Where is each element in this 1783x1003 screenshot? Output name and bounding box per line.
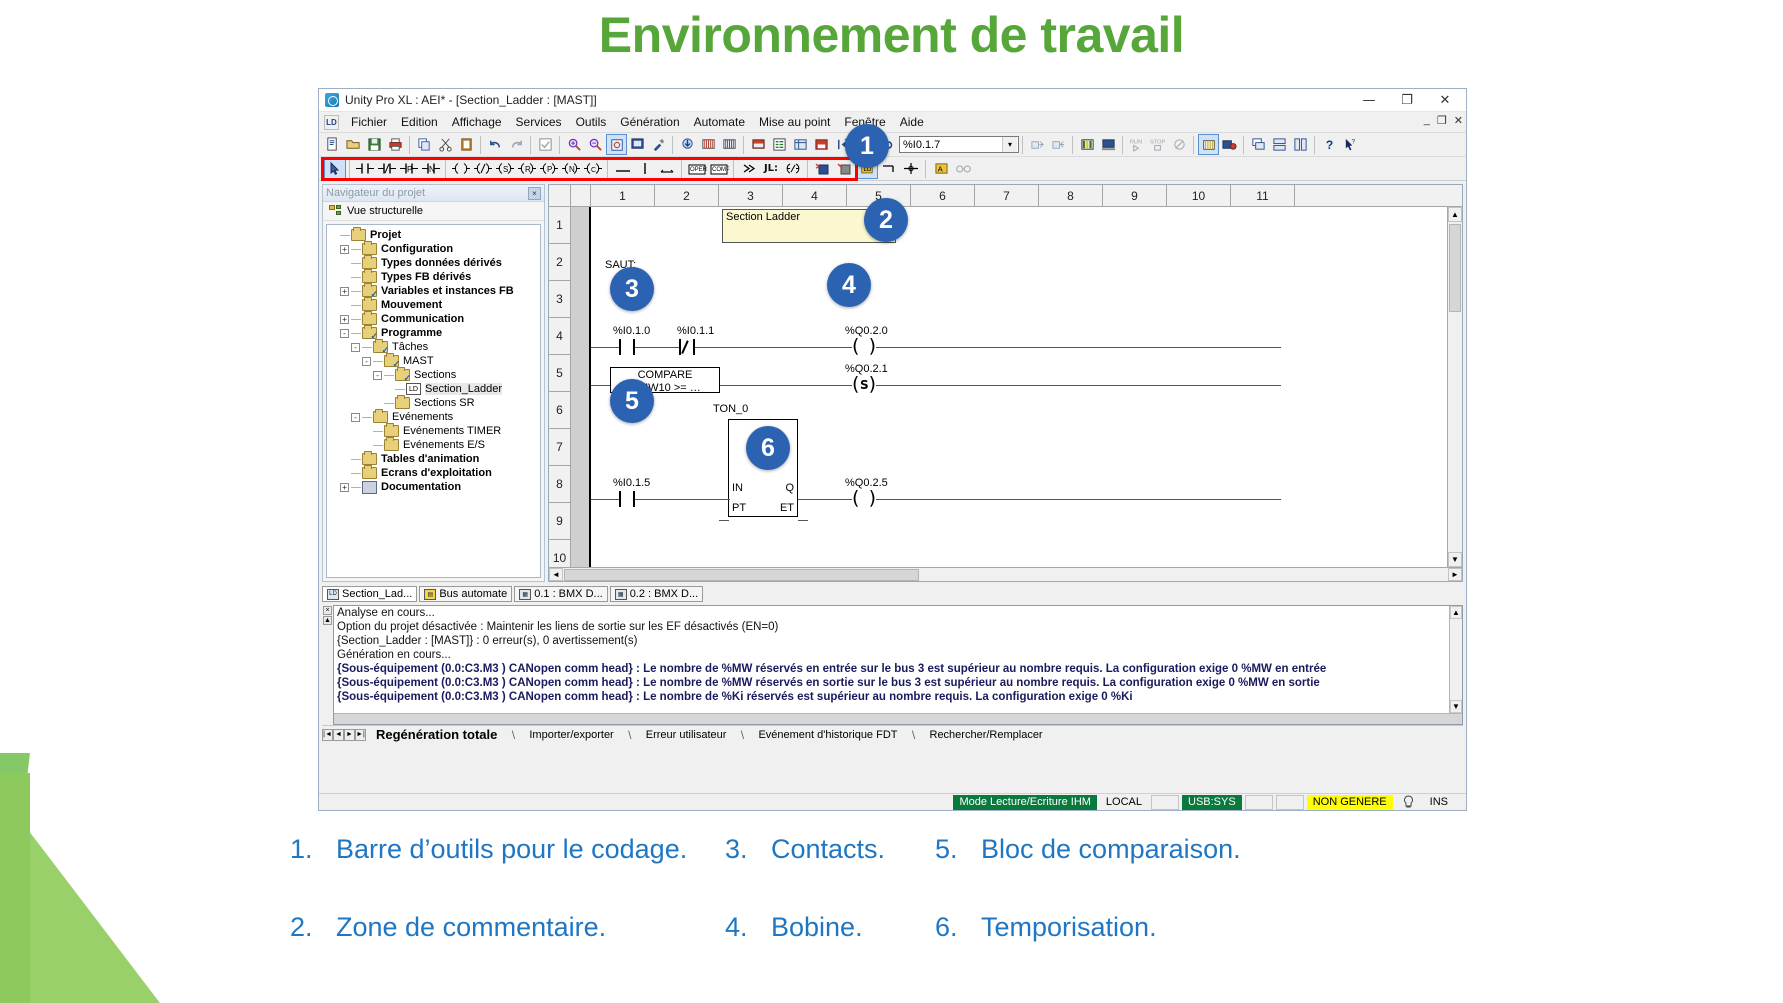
output-tab-3[interactable]: Evénement d'historique FDT [748,729,907,741]
init-icon[interactable] [1169,134,1190,155]
build-icon[interactable] [677,134,698,155]
toolbar-separator [349,160,351,178]
cascade-icon[interactable] [1248,134,1269,155]
coil-halt-icon[interactable]: N [560,159,582,179]
tree-node[interactable]: Evénements E/S [329,438,538,452]
caption-item-3: 3. Contacts. [725,832,935,866]
navigator-title-bar: Navigateur du projet × [323,185,544,202]
folder-icon [384,425,399,437]
contact-no-2[interactable] [619,491,635,507]
context-help-icon[interactable]: ? [1340,134,1361,155]
v-link-icon[interactable] [634,159,656,179]
tree-connector [384,403,394,404]
wire-segment [591,385,610,386]
mdi-minimize-button[interactable]: _ [1424,114,1430,127]
document-tab-1[interactable]: ▤Bus automate [419,586,512,602]
tree-node[interactable]: Evénements TIMER [329,424,538,438]
tree-connector [340,235,350,236]
caption-text-5: Bloc de comparaison. [981,832,1241,866]
column-header-2[interactable]: 2 [655,185,719,206]
operator-icon[interactable] [1219,134,1240,155]
wire-segment [720,385,852,386]
help-icon[interactable]: ? [1319,134,1340,155]
tree-node-label: Evénements TIMER [403,425,501,437]
structural-view-tab[interactable]: Vue structurelle [323,202,544,221]
tree-node[interactable]: +Documentation [329,480,538,494]
coil-output-1[interactable]: () [852,338,876,356]
contact-no-icon[interactable] [354,159,376,179]
wire-segment [876,385,1281,386]
row-header-10[interactable]: 10 [549,540,570,567]
ton-pin-pt: PT [732,502,746,514]
cross-icon[interactable] [900,159,922,179]
folder-icon [362,467,377,479]
coil-pulse-icon[interactable]: P [538,159,560,179]
tile-horizontal-icon[interactable] [1269,134,1290,155]
tree-node[interactable]: +Communication [329,312,538,326]
column-header-7[interactable]: 7 [975,185,1039,206]
output-line-0[interactable]: Analyse en cours... [334,606,1462,620]
tree-expander-icon[interactable]: - [351,343,360,352]
toolbar-separator [1072,136,1074,154]
column-header-1[interactable]: 1 [591,185,655,206]
output-line-5[interactable]: {Sous-équipement (0.0:C3.M3 ) CANopen co… [334,676,1462,690]
print-icon[interactable] [385,134,406,155]
copy-icon[interactable] [414,134,435,155]
ld-icon: LD [327,589,339,600]
validate-icon[interactable] [535,134,556,155]
tree-expander-icon[interactable]: + [340,287,349,296]
mdi-close-button[interactable]: ✕ [1454,114,1463,127]
data-editor-icon[interactable] [748,134,769,155]
menu-item-outils[interactable]: Outils [569,113,614,131]
tree-connector [351,277,361,278]
folder-icon [362,271,377,283]
animation-icon[interactable] [1198,134,1219,155]
row-header-1[interactable]: 1 [549,207,570,244]
tree-connector [351,249,361,250]
tree-connector [351,487,361,488]
menu-item-automate[interactable]: Automate [687,113,752,131]
scroll-up-icon[interactable]: ▲ [1450,606,1462,619]
wire-segment [719,520,729,521]
tree-spacer [362,441,371,450]
scroll-left-icon[interactable]: ◄ [549,568,563,581]
document-tab-2[interactable]: ▦0.1 : BMX D... [514,586,607,602]
link-drag-icon[interactable] [656,159,678,179]
app-body: Navigateur du projet × Vue structurelle … [319,181,1466,585]
coil-icon[interactable] [450,159,472,179]
contact-no[interactable] [619,339,635,355]
ton-pin-et: ET [780,502,794,514]
tree-node-label: Programme [381,327,442,339]
tree-node[interactable]: +Configuration [329,242,538,256]
fb-insert-icon[interactable] [812,159,834,179]
ladder-editor: 1 2 3 4 5 6 7 8 9 10 11 12345678910 Sect… [548,184,1463,582]
toolbar-separator [733,160,735,178]
tree-node-label: Ecrans d'exploitation [381,467,492,479]
caption-list: 1. Barre d’outils pour le codage. 3. Con… [290,832,1490,988]
operate-block-icon[interactable]: OPER [686,159,708,179]
output-tab-2[interactable]: Erreur utilisateur [636,729,737,741]
svg-text:RUN: RUN [1130,140,1142,146]
prev-tab-icon[interactable]: ◄ [333,729,344,741]
caption-text-1: Barre d’outils pour le codage. [336,832,687,866]
caption-number-6: 6. [935,910,969,944]
output-tab-1[interactable]: Importer/exporter [519,729,623,741]
callout-marker-6: 6 [746,426,790,470]
text-icon[interactable]: A [930,159,952,179]
tree-node[interactable]: Tables d'animation [329,452,538,466]
callout-marker-5: 5 [610,379,654,423]
tree-node[interactable]: -Evénements [329,410,538,424]
caption-number-5: 5. [935,832,969,866]
tree-connector [384,375,394,376]
column-header-3[interactable]: 3 [719,185,783,206]
status-location: LOCAL [1100,795,1148,810]
menu-item-mise-au-point[interactable]: Mise au point [752,113,837,131]
first-tab-icon[interactable]: |◄ [322,729,333,741]
folder-icon [384,355,399,367]
structural-view-label: Vue structurelle [347,205,423,217]
connect-icon[interactable] [1027,134,1048,155]
tree-spacer [340,273,349,282]
tree-node[interactable]: LDSection_Ladder [329,382,538,396]
scroll-right-icon[interactable]: ► [1448,568,1462,581]
coil-output-3[interactable]: () [852,490,876,508]
caption-number-1: 1. [290,832,324,866]
plc-screen-icon[interactable] [1077,134,1098,155]
disconnect-icon[interactable] [1048,134,1069,155]
svg-text:P: P [407,165,412,174]
folder-icon [373,341,388,353]
redo-icon[interactable] [506,134,527,155]
coil-not-icon[interactable] [472,159,494,179]
document-tab-label: 0.2 : BMX D... [630,588,698,600]
output-window: × ▲ Analyse en cours...Option du projet … [322,605,1463,725]
wire-segment [695,347,852,348]
menu-item-edition[interactable]: Edition [394,113,445,131]
menu-item-affichage[interactable]: Affichage [445,113,509,131]
tree-node-label: Configuration [381,243,453,255]
scroll-down-icon[interactable]: ▼ [1448,552,1462,567]
close-icon[interactable]: × [528,187,541,200]
close-icon[interactable]: × [323,606,332,615]
status-empty-1 [1151,795,1179,810]
toolbar-separator [672,136,674,154]
tree-spacer [384,385,393,394]
output-line-3[interactable]: Génération en cours... [334,648,1462,662]
svg-text:N: N [569,165,575,174]
coil-reset-icon[interactable]: R [516,159,538,179]
ladder-canvas[interactable]: Section Ladder SAUT: %I0.1.0 %I0.1.1 %Q0… [591,207,1447,567]
column-header-10[interactable]: 10 [1167,185,1231,206]
contact-a-label: %I0.1.0 [613,325,650,337]
application-window: Unity Pro XL : AEI* - [Section_Ladder : … [318,88,1467,811]
output-horizontal-scrollbar[interactable] [334,713,1462,724]
folder-icon [362,285,377,297]
tree-node[interactable]: -Tâches [329,340,538,354]
address-combo[interactable]: %I0.1.7 ▾ [899,136,1019,153]
tree-expander-icon[interactable]: + [340,483,349,492]
tree-node[interactable]: +Variables et instances FB [329,284,538,298]
tree-node-label: Communication [381,313,464,325]
menu-item-aide[interactable]: Aide [893,113,931,131]
grid-corner [549,185,571,206]
tree-node[interactable]: -Sections [329,368,538,382]
tree-node-label: Mouvement [381,299,442,311]
scroll-down-icon[interactable]: ▼ [1450,700,1462,713]
output-line-1[interactable]: Option du projet désactivée : Maintenir … [334,620,1462,634]
title-bar: Unity Pro XL : AEI* - [Section_Ladder : … [319,89,1466,112]
toolbar-separator [681,160,683,178]
wire-segment [591,347,619,348]
tab-nav-buttons: |◄ ◄ ► ►| [322,729,366,741]
tree-spacer [329,231,338,240]
toolbar-separator [1314,136,1316,154]
module-icon: ▦ [615,589,627,600]
menu-item-generation[interactable]: Génération [613,113,686,131]
chevron-down-icon[interactable]: ▾ [1002,137,1017,152]
maximize-button[interactable]: ❐ [1388,89,1426,111]
tab-separator: \ [624,728,636,742]
tree-expander-icon[interactable]: - [351,413,360,422]
undo-icon[interactable] [485,134,506,155]
svg-text:N: N [429,165,435,174]
folder-icon [351,229,366,241]
tile-vertical-icon[interactable] [1290,134,1311,155]
wire-segment [591,499,619,500]
tree-node[interactable]: Projet [329,228,538,242]
mdi-restore-button[interactable]: ❐ [1437,114,1447,127]
zoom-fit-icon[interactable] [606,134,627,155]
tree-node[interactable]: Mouvement [329,298,538,312]
minimize-button[interactable]: — [1350,89,1388,111]
structure-icon [329,205,342,217]
cut-icon[interactable] [435,134,456,155]
tree-expander-icon[interactable]: - [373,371,382,380]
svg-text:C: C [591,167,596,174]
wire-segment [720,499,730,500]
coil-output-set[interactable]: (S) [852,376,876,394]
rebuild-icon[interactable] [719,134,740,155]
project-tree[interactable]: Projet+ConfigurationTypes données dérivé… [326,224,541,578]
coil-call-icon[interactable]: C [582,159,604,179]
caption-item-4: 4. Bobine. [725,910,935,944]
output-line-6[interactable]: {Sous-équipement (0.0:C3.M3 ) CANopen co… [334,690,1462,704]
tree-connector [373,445,383,446]
return-icon[interactable] [782,159,804,179]
toolbar-separator [1122,136,1124,154]
output-line-2[interactable]: {Section_Ladder : [MAST]} : 0 erreur(s),… [334,634,1462,648]
variables-icon[interactable] [769,134,790,155]
h-link-icon[interactable] [612,159,634,179]
table-icon[interactable] [790,134,811,155]
output-tab-0[interactable]: Regénération totale [366,727,507,742]
contact-b-label: %I0.1.1 [677,325,714,337]
tab-separator: \ [736,728,748,742]
build-all-icon[interactable] [698,134,719,155]
menu-item-services[interactable]: Services [509,113,569,131]
paste-icon[interactable] [456,134,477,155]
tree-node-label: Tâches [392,341,428,353]
status-connection: USB:SYS [1182,795,1242,810]
tree-node-label: Types données dérivés [381,257,502,269]
tree-spacer [340,469,349,478]
tree-node-label: MAST [403,355,434,367]
svg-text:?: ? [1351,139,1355,146]
archive-icon[interactable] [811,134,832,155]
tree-node[interactable]: Sections SR [329,396,538,410]
open-icon[interactable] [343,134,364,155]
status-empty-2 [1245,795,1273,810]
page-title: Environnement de travail [0,6,1783,64]
contact-nc-icon[interactable] [376,159,398,179]
tree-expander-icon[interactable]: + [340,315,349,324]
tree-node[interactable]: Types FB dérivés [329,270,538,284]
toolbar-separator [559,136,561,154]
menu-item-fichier[interactable]: Fichier [344,113,394,131]
tree-node-label: Sections SR [414,397,475,409]
callout-marker-2: 2 [864,198,908,242]
output-tab-strip: |◄ ◄ ► ►| Regénération totale\Importer/e… [322,725,1463,743]
tools-icon[interactable] [648,134,669,155]
vertical-scrollbar[interactable]: ▲ ▼ [1447,207,1462,567]
zoom-out-icon[interactable] [585,134,606,155]
row-header-5[interactable]: 5 [549,355,570,392]
document-icon: LD [324,115,339,130]
caption-text-3: Contacts. [771,832,885,866]
row-header-9[interactable]: 9 [549,503,570,540]
new-icon[interactable] [322,134,343,155]
fullscreen-icon[interactable] [627,134,648,155]
tree-spacer [362,427,371,436]
toolbar-separator [607,160,609,178]
stop-icon[interactable]: STOP [1148,134,1169,155]
caption-text-4: Bobine. [771,910,863,944]
scroll-up-icon[interactable]: ▲ [323,616,332,625]
coil-set-icon[interactable]: S [494,159,516,179]
row-header-4[interactable]: 4 [549,318,570,355]
caption-item-2: 2. Zone de commentaire. [290,910,725,944]
section-ld-icon: LD [406,383,421,395]
horizontal-scroll-thumb[interactable] [564,569,919,581]
column-header-9[interactable]: 9 [1103,185,1167,206]
jump-icon[interactable] [738,159,760,179]
tree-connector [351,473,361,474]
subroutine-icon[interactable]: JL: [760,159,782,179]
svg-text:S: S [503,165,508,174]
next-tab-icon[interactable]: ► [344,729,355,741]
document-tab-3[interactable]: ▦0.2 : BMX D... [610,586,703,602]
tree-node[interactable]: Types données dérivés [329,256,538,270]
tree-node[interactable]: -Programme [329,326,538,340]
ladder-toolbar-container: P N S R P N C [319,157,1466,181]
address-value: %I0.1.7 [903,139,940,151]
tree-node-label: Sections [414,369,456,381]
ton-pin-q: Q [785,482,794,494]
output-message-list[interactable]: Analyse en cours...Option du projet désa… [333,605,1463,725]
column-header-4[interactable]: 4 [783,185,847,206]
row-header-8[interactable]: 8 [549,466,570,503]
tree-connector [351,263,361,264]
output-tab-4[interactable]: Rechercher/Remplacer [920,729,1053,741]
zoom-in-icon[interactable] [564,134,585,155]
folder-icon [395,369,410,381]
grid-gutter-header [571,185,591,206]
tree-node-label: Evénements [392,411,453,423]
output-vertical-scrollbar[interactable]: ▲ ▼ [1449,606,1462,724]
wire-segment [876,347,1281,348]
module-icon: ▦ [519,589,531,600]
run-icon[interactable]: RUN [1127,134,1148,155]
folder-icon [362,327,377,339]
vertical-scroll-thumb[interactable] [1449,224,1461,312]
simulator-icon[interactable] [1098,134,1119,155]
document-tab-label: Bus automate [439,588,507,600]
tree-node[interactable]: Ecrans d'exploitation [329,466,538,480]
document-tab-label: 0.1 : BMX D... [534,588,602,600]
document-tab-0[interactable]: LDSection_Lad... [322,586,417,602]
row-header-column: 12345678910 [549,207,571,567]
contact-neg-edge-icon[interactable]: N [420,159,442,179]
row-header-3[interactable]: 3 [549,281,570,318]
scroll-up-icon[interactable]: ▲ [1448,207,1462,222]
compare-block-icon[interactable]: COMP [708,159,730,179]
wire-segment [635,347,679,348]
row-header-6[interactable]: 6 [549,392,570,429]
svg-text:P: P [547,165,552,174]
column-header-11[interactable]: 11 [1231,185,1295,206]
toolbar-separator [480,136,482,154]
horizontal-scrollbar[interactable]: ◄ ► [549,567,1462,581]
tree-expander-icon[interactable]: - [340,329,349,338]
tree-connector [395,389,405,390]
callout-marker-1: 1 [845,124,889,168]
glasses-icon[interactable] [952,159,974,179]
folder-icon [362,243,377,255]
folder-icon [362,257,377,269]
wire-segment [798,499,852,500]
wire-segment [798,520,808,521]
column-header-8[interactable]: 8 [1039,185,1103,206]
close-button[interactable]: ✕ [1426,89,1464,111]
wire-segment [635,499,729,500]
tree-node-label: Documentation [381,481,461,493]
mdi-window-controls: _ ❐ ✕ [1424,114,1463,127]
row-header-2[interactable]: 2 [549,244,570,281]
save-icon[interactable] [364,134,385,155]
tree-spacer [373,399,382,408]
tree-node-label: Section_Ladder [425,383,502,395]
tree-expander-icon[interactable]: - [362,357,371,366]
tree-expander-icon[interactable]: + [340,245,349,254]
tab-separator: \ [507,728,519,742]
app-logo-icon [325,93,339,107]
toolbar-separator [409,136,411,154]
bus-icon: ▤ [424,589,436,600]
pointer-icon[interactable] [324,159,346,179]
row-header-7[interactable]: 7 [549,429,570,466]
last-tab-icon[interactable]: ►| [355,729,366,741]
toolbar-separator [530,136,532,154]
tree-spacer [340,455,349,464]
contact-nc[interactable] [679,339,695,355]
column-header-6[interactable]: 6 [911,185,975,206]
contact-pos-edge-icon[interactable]: P [398,159,420,179]
tree-node[interactable]: -MAST [329,354,538,368]
output-line-4[interactable]: {Sous-équipement (0.0:C3.M3 ) CANopen co… [334,662,1462,676]
